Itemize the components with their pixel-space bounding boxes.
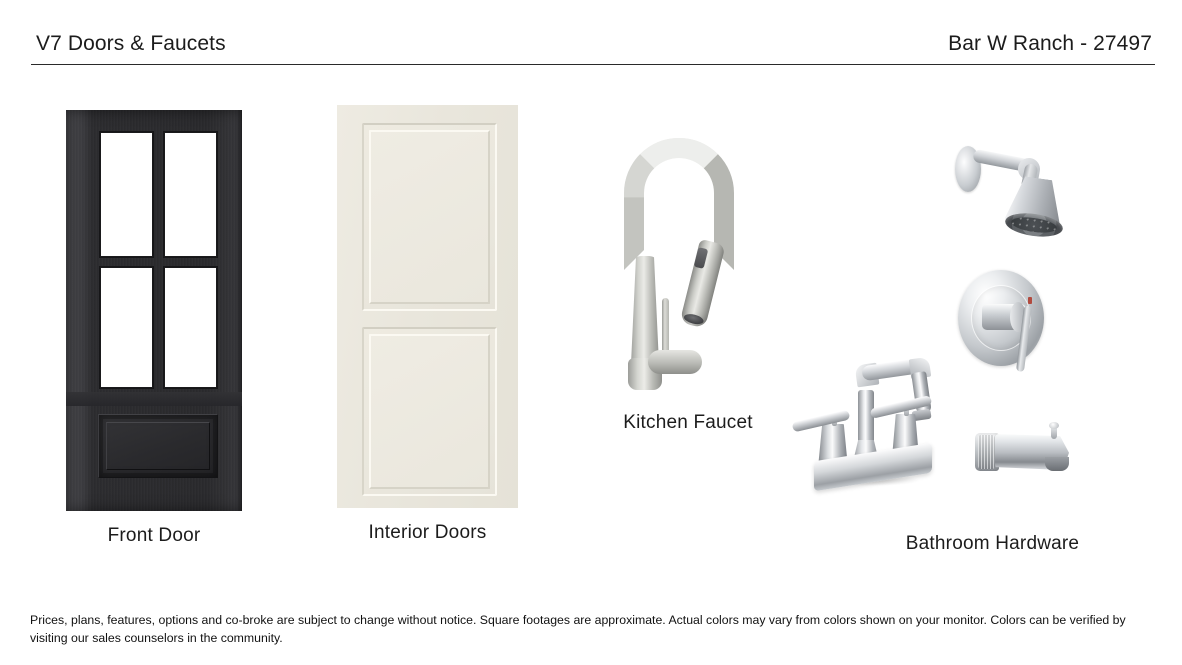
disclaimer-text: Prices, plans, features, options and co-… (30, 612, 1140, 647)
community-name: Bar W Ranch - 27497 (948, 32, 1152, 56)
front-door-caption: Front Door (66, 525, 242, 547)
shower-head-image (955, 128, 1075, 238)
bathroom-hardware-caption: Bathroom Hardware (870, 533, 1115, 555)
front-door-lite-top-right (164, 132, 217, 257)
shower-valve-trim-image (958, 270, 1078, 375)
interior-door-panel-bottom (362, 327, 497, 496)
shower-valve-temperature-index (1028, 297, 1032, 304)
kitchen-faucet-body (631, 256, 659, 364)
front-door-lite-top-left (100, 132, 153, 257)
front-door-lite-bottom-left (100, 267, 153, 388)
interior-door-image (337, 105, 518, 508)
front-door-lite-bottom-right (164, 267, 217, 388)
kitchen-faucet-caption: Kitchen Faucet (588, 412, 788, 434)
front-door-slab (66, 110, 242, 511)
kitchen-faucet-image (600, 138, 780, 390)
interior-door-slab (337, 105, 518, 508)
front-door-bottom-panel (98, 414, 218, 478)
header-divider (31, 64, 1155, 65)
front-door-image (66, 110, 242, 511)
bathroom-sink-faucet-image (800, 348, 960, 503)
front-door-mid-rail (66, 392, 242, 406)
tub-spout-diverter-knob (1049, 422, 1059, 429)
page-title: V7 Doors & Faucets (36, 32, 226, 56)
page-header: V7 Doors & Faucets Bar W Ranch - 27497 (0, 0, 1182, 66)
kitchen-faucet-handle-hub (648, 350, 702, 374)
interior-doors-caption: Interior Doors (337, 522, 518, 544)
tub-spout-outlet (1045, 457, 1069, 471)
tub-spout-image (975, 425, 1085, 485)
interior-door-panel-top (362, 123, 497, 311)
